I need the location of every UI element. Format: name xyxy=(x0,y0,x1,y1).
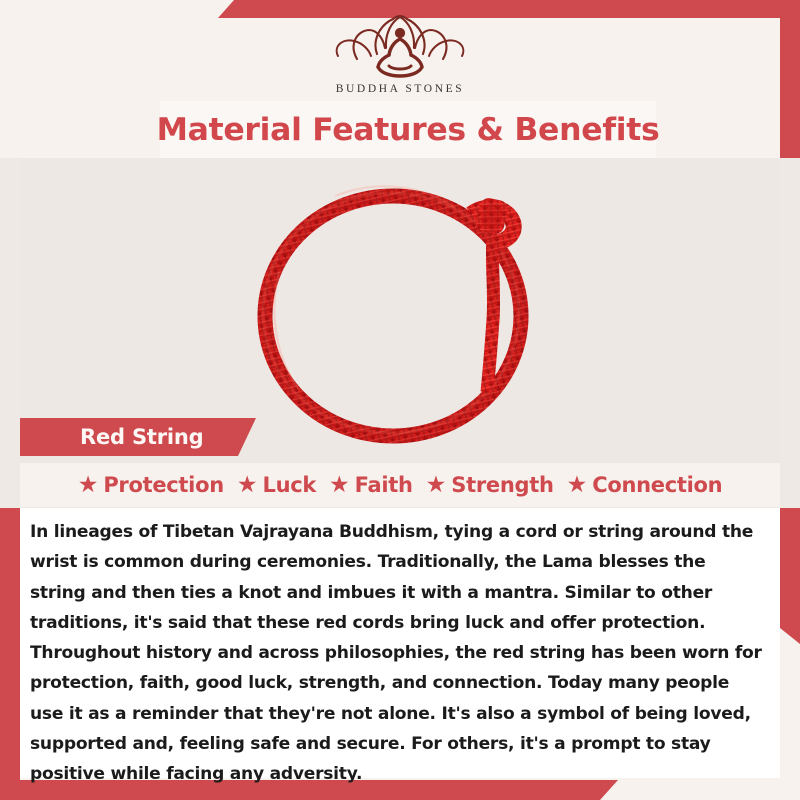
benefit-label: Connection xyxy=(592,473,722,497)
page-title-band: Material Features & Benefits xyxy=(160,101,656,158)
benefit-item-strength: ★ Strength xyxy=(426,473,554,497)
lotus-meditation-icon xyxy=(325,12,475,82)
page-title: Material Features & Benefits xyxy=(157,112,660,148)
star-icon: ★ xyxy=(426,473,447,496)
description-card: In lineages of Tibetan Vajrayana Buddhis… xyxy=(20,508,780,778)
star-icon: ★ xyxy=(329,473,350,496)
benefit-item-luck: ★ Luck xyxy=(237,473,316,497)
benefit-item-protection: ★ Protection xyxy=(78,473,224,497)
benefit-label: Faith xyxy=(355,473,413,497)
red-string-bracelet-photo xyxy=(235,152,565,452)
benefit-item-faith: ★ Faith xyxy=(329,473,413,497)
benefits-row: ★ Protection ★ Luck ★ Faith ★ Strength ★… xyxy=(20,463,780,507)
benefit-item-connection: ★ Connection xyxy=(567,473,723,497)
benefit-label: Protection xyxy=(103,473,224,497)
description-paragraph: In lineages of Tibetan Vajrayana Buddhis… xyxy=(30,517,766,790)
star-icon: ★ xyxy=(237,473,258,496)
star-icon: ★ xyxy=(567,473,588,496)
ribbon-label: Red String xyxy=(80,425,203,449)
benefit-label: Strength xyxy=(451,473,553,497)
benefit-label: Luck xyxy=(262,473,316,497)
brand-header: BUDDHA STONES xyxy=(0,0,800,104)
infographic-canvas: BUDDHA STONES Material Features & Benefi… xyxy=(0,0,800,800)
star-icon: ★ xyxy=(78,473,99,496)
brand-logo: BUDDHA STONES xyxy=(270,12,530,95)
brand-name: BUDDHA STONES xyxy=(270,83,530,95)
red-string-ribbon: Red String xyxy=(20,418,256,456)
